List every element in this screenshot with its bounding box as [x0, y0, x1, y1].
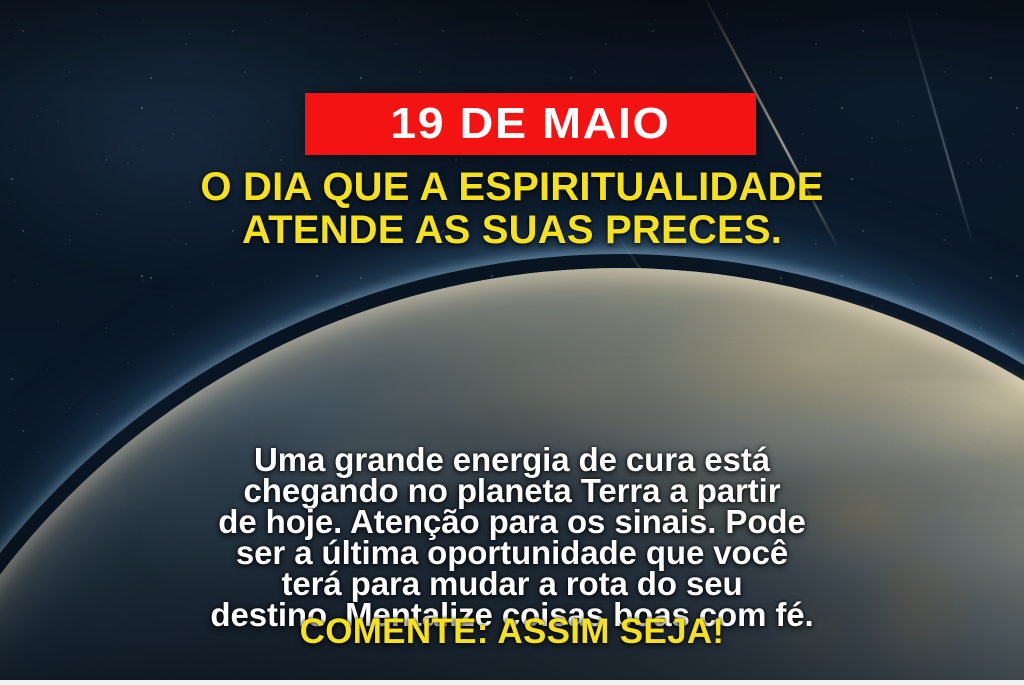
- poster-content: 19 DE MAIO O DIA QUE A ESPIRITUALIDADE A…: [0, 0, 1024, 685]
- body-line-1: Uma grande energia de cura está: [62, 444, 962, 475]
- headline-line-2: ATENDE AS SUAS PRECES.: [62, 209, 962, 252]
- body-line-4: ser a última oportunidade que você: [62, 537, 962, 568]
- date-banner: 19 DE MAIO: [305, 93, 756, 155]
- date-banner-label: 19 DE MAIO: [390, 102, 670, 146]
- body-line-5: terá para mudar a rota do seu: [62, 568, 962, 599]
- poster-canvas: 19 DE MAIO O DIA QUE A ESPIRITUALIDADE A…: [0, 0, 1024, 685]
- headline-line-1: O DIA QUE A ESPIRITUALIDADE: [62, 166, 962, 209]
- headline: O DIA QUE A ESPIRITUALIDADE ATENDE AS SU…: [62, 166, 962, 252]
- body-paragraph: Uma grande energia de cura está chegando…: [62, 444, 962, 630]
- body-line-2: chegando no planeta Terra a partir: [62, 475, 962, 506]
- bottom-strip: [0, 680, 1024, 685]
- body-line-3: de hoje. Atenção para os sinais. Pode: [62, 506, 962, 537]
- call-to-action-text: COMENTE: ASSIM SEJA!: [62, 614, 962, 651]
